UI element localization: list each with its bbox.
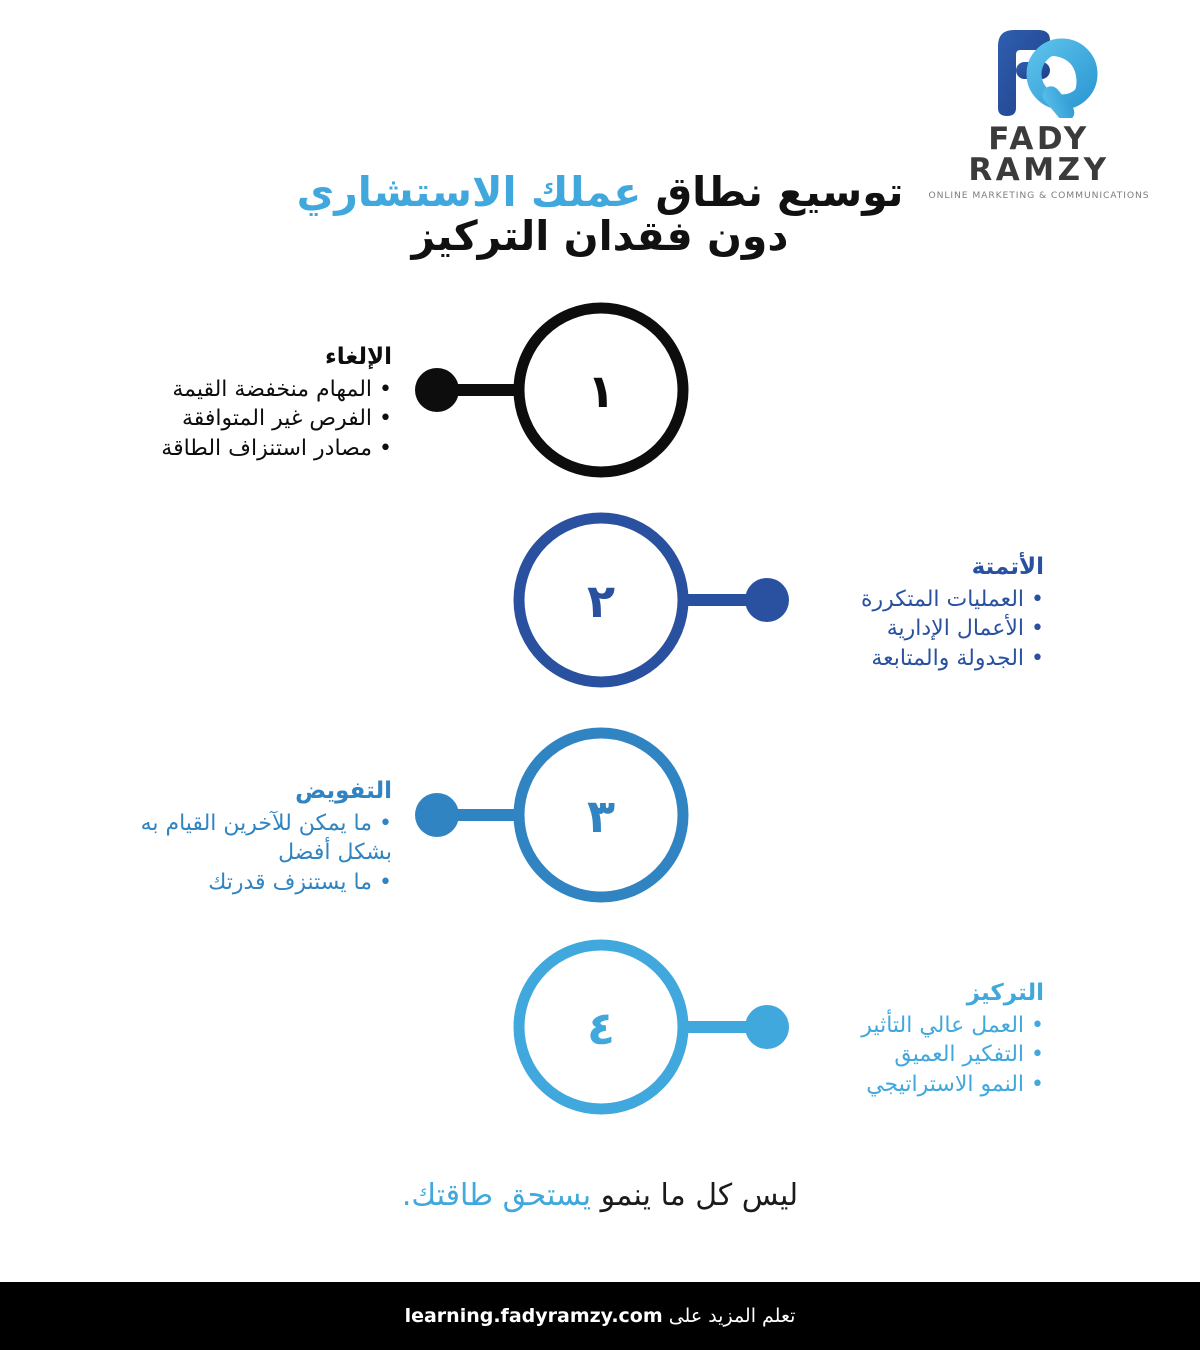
- step-item: • مصادر استنزاف الطاقة: [62, 434, 392, 463]
- title-part-plain: توسيع نطاق: [641, 168, 903, 216]
- step-item: • الجدولة والمتابعة: [714, 644, 1044, 673]
- footer-lead: تعلم المزيد على: [663, 1305, 796, 1327]
- step-item: • المهام منخفضة القيمة: [62, 375, 392, 404]
- page-title: توسيع نطاق عملك الاستشاري دون فقدان التر…: [0, 168, 1200, 261]
- tagline-plain: ليس كل ما ينمو: [591, 1178, 798, 1213]
- step-number-2: ٢: [517, 578, 685, 624]
- step-item: • ما يستنزف قدرتك: [62, 868, 392, 897]
- leader-dot-3: [415, 793, 459, 837]
- step-number-4: ٤: [517, 1005, 685, 1051]
- step-item: • النمو الاستراتيجي: [714, 1070, 1044, 1099]
- step-text-4: التركيز • العمل عالي التأثير • التفكير ا…: [714, 978, 1044, 1099]
- step-heading-3: التفويض: [62, 776, 392, 807]
- step-text-1: الإلغاء • المهام منخفضة القيمة • الفرص غ…: [62, 342, 392, 463]
- step-heading-2: الأتمتة: [714, 552, 1044, 583]
- step-heading-4: التركيز: [714, 978, 1044, 1009]
- step-number-3: ٣: [517, 793, 685, 839]
- title-line-2: دون فقدان التركيز: [120, 212, 1080, 260]
- fr-monogram-icon: [976, 22, 1102, 118]
- step-item: • العمليات المتكررة: [714, 585, 1044, 614]
- step-item: • الأعمال الإدارية: [714, 614, 1044, 643]
- step-item: • ما يمكن للآخرين القيام به: [62, 809, 392, 838]
- step-item: • العمل عالي التأثير: [714, 1011, 1044, 1040]
- closing-tagline: ليس كل ما ينمو يستحق طاقتك.: [0, 1178, 1200, 1213]
- step-number-1: ١: [517, 368, 685, 414]
- infographic-page: FADY RAMZY ONLINE MARKETING & COMMUNICAT…: [0, 0, 1200, 1350]
- footer-bar: تعلم المزيد على learning.fadyramzy.com: [0, 1282, 1200, 1350]
- title-line-1: توسيع نطاق عملك الاستشاري: [120, 168, 1080, 216]
- footer-text: تعلم المزيد على learning.fadyramzy.com: [405, 1305, 796, 1327]
- step-item: بشكل أفضل: [62, 838, 392, 867]
- title-part-highlight: عملك الاستشاري: [297, 168, 642, 216]
- leader-dot-1: [415, 368, 459, 412]
- tagline-highlight: يستحق طاقتك.: [402, 1178, 591, 1213]
- steps-diagram: ١ ٢ ٣ ٤ الإلغاء • المهام منخفضة القيمة •…: [0, 290, 1200, 1150]
- step-item: • الفرص غير المتوافقة: [62, 404, 392, 433]
- step-text-2: الأتمتة • العمليات المتكررة • الأعمال ال…: [714, 552, 1044, 673]
- footer-url[interactable]: learning.fadyramzy.com: [405, 1305, 663, 1327]
- step-text-3: التفويض • ما يمكن للآخرين القيام به بشكل…: [62, 776, 392, 897]
- step-heading-1: الإلغاء: [62, 342, 392, 373]
- step-item: • التفكير العميق: [714, 1040, 1044, 1069]
